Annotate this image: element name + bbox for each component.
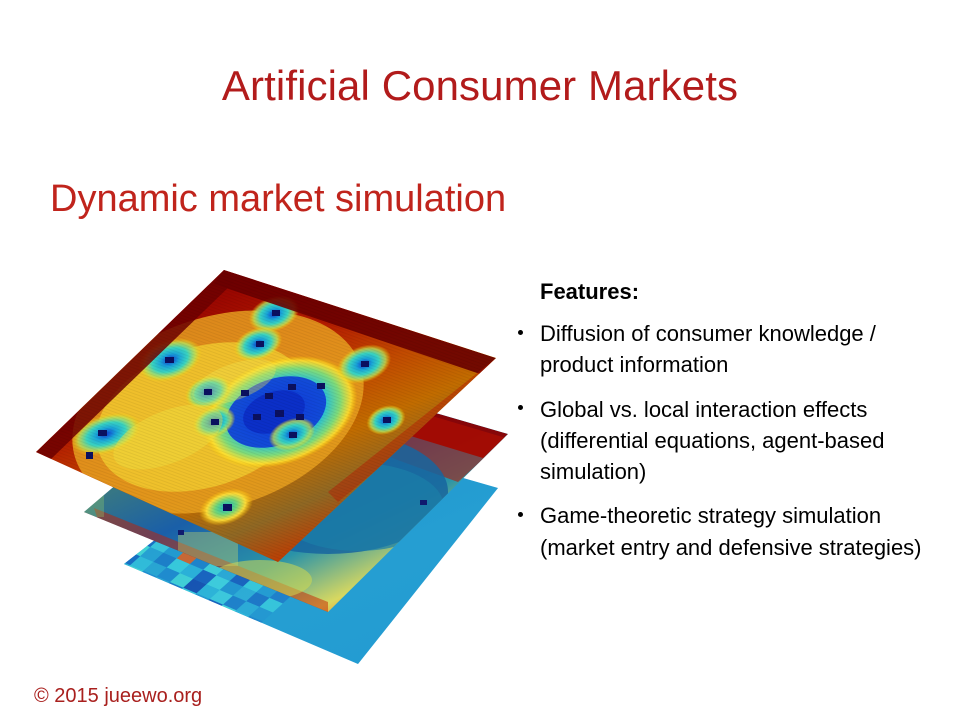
bullet-dot-icon (518, 512, 523, 517)
copyright-footer: © 2015 jueewo.org (34, 685, 202, 708)
layered-heatmap-svg (28, 262, 508, 672)
list-item: Game-theoretic strategy simulation (mark… (512, 500, 932, 562)
features-heading: Features: (540, 280, 932, 304)
list-item-text: Global vs. local interaction effects (di… (540, 397, 885, 484)
layered-heatmap-figure (28, 262, 508, 672)
list-item: Diffusion of consumer knowledge / produc… (512, 318, 932, 380)
list-item-text: Game-theoretic strategy simulation (mark… (540, 503, 922, 559)
bullet-dot-icon (518, 330, 523, 335)
list-item-text: Diffusion of consumer knowledge / produc… (540, 321, 876, 377)
list-item: Global vs. local interaction effects (di… (512, 394, 932, 488)
features-panel: Features: Diffusion of consumer knowledg… (512, 280, 932, 576)
features-bullet-list: Diffusion of consumer knowledge / produc… (512, 318, 932, 563)
slide-subtitle: Dynamic market simulation (50, 178, 506, 221)
slide-canvas: Artificial Consumer Markets Dynamic mark… (0, 0, 960, 720)
page-title: Artificial Consumer Markets (0, 62, 960, 110)
bullet-dot-icon (518, 405, 523, 410)
